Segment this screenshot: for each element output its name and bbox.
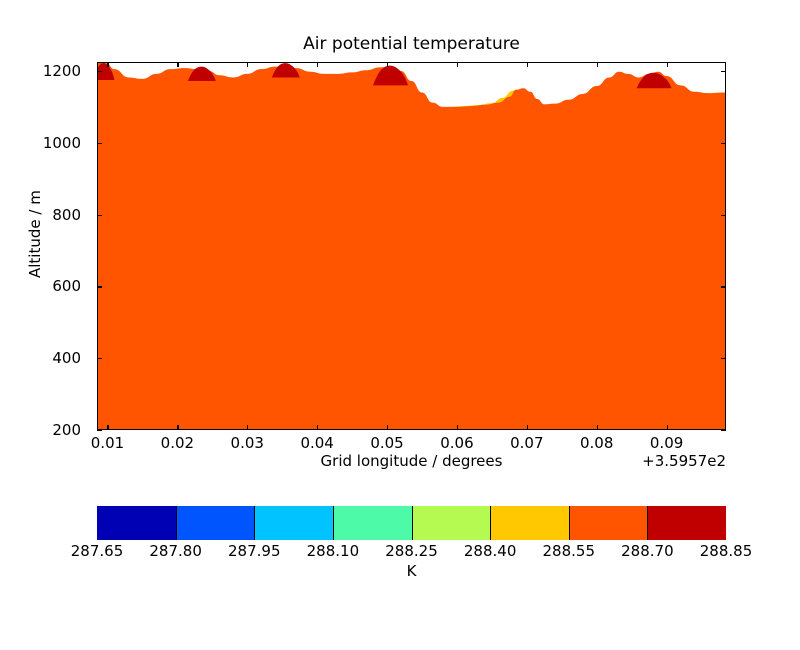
colorbar-segment[interactable] <box>647 506 726 540</box>
x-tick-mark <box>317 425 318 430</box>
colorbar-separator <box>254 506 255 540</box>
x-tick-mark <box>177 62 178 67</box>
x-tick-mark <box>247 425 248 430</box>
y-tick-mark <box>97 430 102 431</box>
contour-plot <box>97 62 726 430</box>
colorbar-tick-label: 288.25 <box>385 542 438 560</box>
x-tick-mark <box>317 62 318 67</box>
x-tick-mark <box>667 425 668 430</box>
y-tick-mark <box>721 215 726 216</box>
colorbar[interactable] <box>97 506 726 540</box>
y-tick-label: 1000 <box>43 134 81 152</box>
colorbar-separator <box>647 506 648 540</box>
contour-dark-red-cap-5 <box>637 73 672 88</box>
x-tick-mark <box>177 425 178 430</box>
x-tick-mark <box>457 62 458 67</box>
y-tick-mark <box>97 286 102 287</box>
x-tick-label: 0.07 <box>510 434 543 452</box>
colorbar-separator <box>412 506 413 540</box>
y-tick-label: 1200 <box>43 62 81 80</box>
x-tick-label: 0.02 <box>161 434 194 452</box>
y-tick-mark <box>97 143 102 144</box>
colorbar-segment[interactable] <box>254 506 333 540</box>
colorbar-segment[interactable] <box>176 506 255 540</box>
x-tick-label: 0.03 <box>231 434 264 452</box>
x-tick-mark <box>247 62 248 67</box>
colorbar-segment[interactable] <box>97 506 176 540</box>
x-axis-offset-text: +3.5957e2 <box>560 452 726 470</box>
page-title: Air potential temperature <box>97 34 726 54</box>
y-tick-mark <box>721 430 726 431</box>
colorbar-separator <box>333 506 334 540</box>
colorbar-tick-label: 288.40 <box>464 542 517 560</box>
colorbar-segment[interactable] <box>490 506 569 540</box>
colorbar-segment[interactable] <box>333 506 412 540</box>
y-tick-label: 400 <box>52 349 81 367</box>
y-tick-mark <box>721 358 726 359</box>
colorbar-tick-label: 288.70 <box>621 542 674 560</box>
y-tick-mark <box>97 215 102 216</box>
y-tick-label: 800 <box>52 206 81 224</box>
x-tick-mark <box>457 425 458 430</box>
y-tick-mark <box>97 71 102 72</box>
x-tick-mark <box>107 62 108 67</box>
colorbar-tick-labels: 287.65287.80287.95288.10288.25288.40288.… <box>97 542 726 564</box>
y-tick-mark <box>721 71 726 72</box>
x-tick-mark <box>387 62 388 67</box>
x-tick-mark <box>597 62 598 67</box>
x-tick-label: 0.04 <box>300 434 333 452</box>
x-tick-label: 0.09 <box>650 434 683 452</box>
x-tick-label: 0.06 <box>440 434 473 452</box>
x-tick-mark <box>597 425 598 430</box>
plot-area[interactable] <box>97 62 726 430</box>
x-tick-mark <box>107 425 108 430</box>
x-tick-label: 0.01 <box>91 434 124 452</box>
y-tick-label: 600 <box>52 277 81 295</box>
colorbar-separator <box>490 506 491 540</box>
colorbar-unit-label: K <box>97 562 726 580</box>
x-tick-mark <box>387 425 388 430</box>
x-tick-mark <box>667 62 668 67</box>
x-tick-label: 0.05 <box>370 434 403 452</box>
x-tick-mark <box>527 62 528 67</box>
y-tick-mark <box>97 358 102 359</box>
colorbar-segment[interactable] <box>412 506 491 540</box>
colorbar-tick-label: 288.55 <box>543 542 596 560</box>
colorbar-tick-label: 287.65 <box>71 542 124 560</box>
y-axis-tick-labels: 20040060080010001200 <box>0 62 89 430</box>
colorbar-tick-label: 287.80 <box>149 542 202 560</box>
contour-band-orange <box>97 62 726 430</box>
x-tick-label: 0.08 <box>580 434 613 452</box>
y-tick-label: 200 <box>52 421 81 439</box>
colorbar-separator <box>569 506 570 540</box>
contour-dark-red-cap-3 <box>272 63 300 77</box>
colorbar-tick-label: 288.10 <box>307 542 360 560</box>
x-tick-mark <box>527 425 528 430</box>
figure-canvas: Air potential temperature Altitude / m 2… <box>0 0 800 650</box>
colorbar-tick-label: 288.85 <box>700 542 753 560</box>
colorbar-separator <box>176 506 177 540</box>
y-tick-mark <box>721 143 726 144</box>
y-tick-mark <box>721 286 726 287</box>
colorbar-segment[interactable] <box>569 506 648 540</box>
colorbar-tick-label: 287.95 <box>228 542 281 560</box>
